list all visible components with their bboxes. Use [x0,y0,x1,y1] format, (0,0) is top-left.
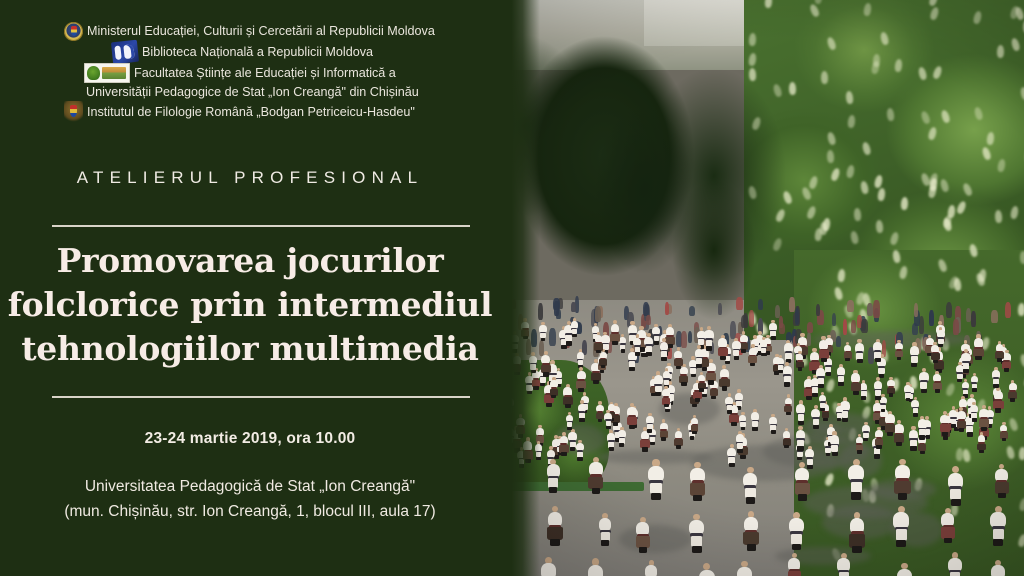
organizer-label: Ministerul Educației, Culturii și Cercet… [87,22,435,40]
national-library-logo-icon [111,40,139,65]
text-panel: Ministerul Educației, Culturii și Cercet… [0,0,500,576]
title-line-2: folclorice prin intermediul [0,283,500,327]
institute-philology-emblem-icon [64,101,83,122]
title-line-1: Promovarea jocurilor [0,239,500,283]
photo-canvas [494,0,1024,576]
venue-line-2: (mun. Chișinău, str. Ion Creangă, 1, blo… [0,499,500,524]
organizer-label: Institutul de Filologie Română „Bodgan P… [87,103,415,121]
moldova-ministry-emblem-icon [64,22,83,41]
photo-vignette [494,0,1024,576]
page-title: Promovarea jocurilor folclorice prin int… [0,239,500,371]
title-line-3: tehnologiilor multimedia [0,327,500,371]
organizer-row: Biblioteca Națională a Republicii Moldov… [0,41,500,63]
organizer-row: Institutul de Filologie Română „Bodgan P… [0,101,500,122]
photo-left-fade [494,0,540,576]
faculty-education-informatics-logo-icon [84,63,130,83]
organizer-row: Universității Pedagogice de Stat „Ion Cr… [0,83,500,101]
event-kicker: ATELIERUL PROFESIONAL [0,168,500,188]
organizers-list: Ministerul Educației, Culturii și Cercet… [0,22,500,122]
event-venue: Universitatea Pedagogică de Stat „Ion Cr… [0,474,500,524]
venue-line-1: Universitatea Pedagogică de Stat „Ion Cr… [0,474,500,499]
folk-dance-photo [494,0,1024,576]
organizer-label: Facultatea Științe ale Educației și Info… [134,64,396,82]
event-poster: Ministerul Educației, Culturii și Cercet… [0,0,1024,576]
event-date: 23-24 martie 2019, ora 10.00 [0,430,500,448]
organizer-label: Biblioteca Națională a Republicii Moldov… [142,43,373,61]
organizer-row: Ministerul Educației, Culturii și Cercet… [0,22,500,41]
organizer-label: Universității Pedagogice de Stat „Ion Cr… [86,83,419,101]
divider-bottom [52,396,470,398]
divider-top [52,225,470,227]
organizer-row: Facultatea Științe ale Educației și Info… [0,63,500,83]
